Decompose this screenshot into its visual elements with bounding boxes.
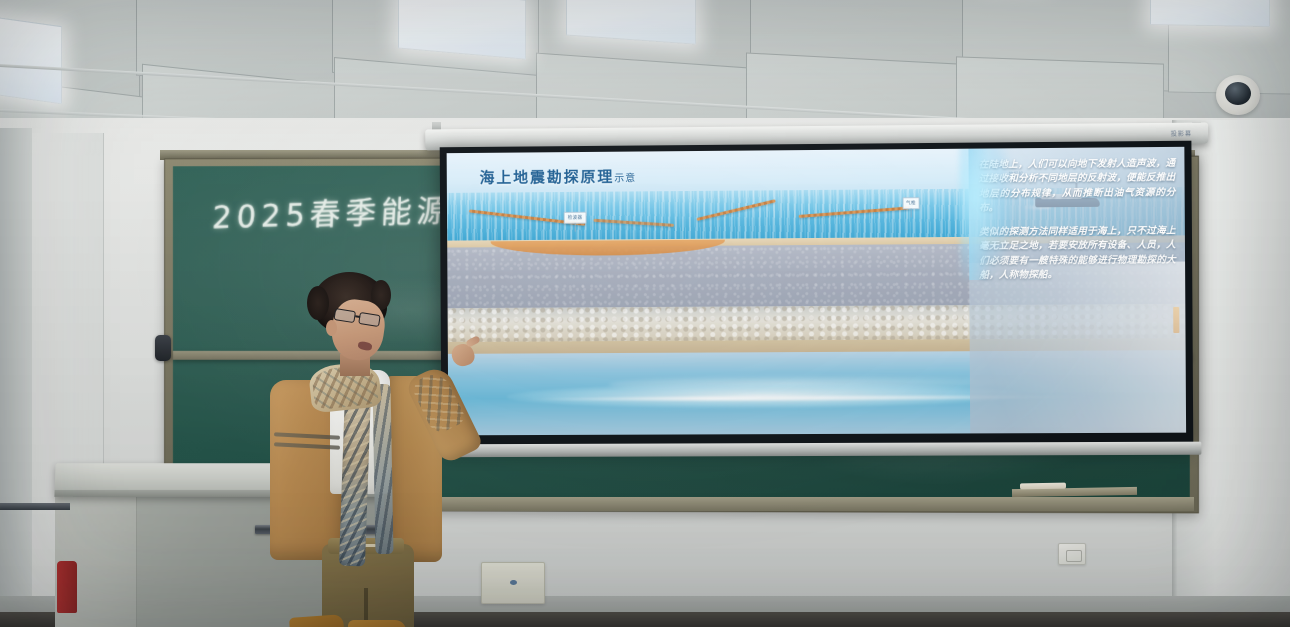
dome-security-camera — [1216, 75, 1260, 115]
ceiling-light-panel — [1150, 0, 1270, 27]
slide-title: 海上地震勘探原理示意 — [480, 166, 637, 188]
chalkboard-ledge — [404, 497, 1194, 511]
indicator-dot-icon — [510, 580, 517, 585]
slide-title-sub: 示意 — [614, 174, 636, 185]
camera-lens-icon — [1225, 82, 1251, 105]
projection-screen[interactable]: 检波器 气枪 物探船 海上地震勘探原理示意 在陆地上，人们可以向地下发射人造声波… — [440, 141, 1194, 446]
slide-watermark — [1173, 307, 1179, 333]
power-outlet[interactable] — [1058, 543, 1086, 565]
slide-text-panel: 在陆地上，人们可以向地下发射人造声波，通过接收和分析不同地层的反射波，便能反推出… — [968, 147, 1186, 434]
classroom-scene: 2025春季能源科普 投影幕 — [0, 0, 1290, 627]
jacket-lining-pattern — [373, 384, 394, 554]
ear — [326, 320, 337, 336]
slide-callout-geophone: 检波器 — [564, 211, 587, 223]
slide: 检波器 气枪 物探船 海上地震勘探原理示意 在陆地上，人们可以向地下发射人造声波… — [447, 147, 1186, 436]
slide-title-main: 海上地震勘探原理 — [480, 168, 615, 187]
boot-right — [348, 620, 406, 627]
presenter — [266, 272, 476, 627]
slide-callout-airgun: 气枪 — [902, 197, 920, 209]
left-pillar — [0, 128, 32, 627]
boot-left — [289, 614, 345, 627]
lectern-drawer-rail — [0, 503, 70, 510]
chalk-stick[interactable] — [1020, 483, 1066, 490]
chalkboard-handle[interactable] — [155, 335, 171, 361]
slide-glow-decor — [960, 147, 1012, 280]
fire-extinguisher — [57, 561, 77, 613]
projection-screen-canvas: 检波器 气枪 物探船 海上地震勘探原理示意 在陆地上，人们可以向地下发射人造声波… — [447, 147, 1186, 436]
housing-label: 投影幕 — [1171, 129, 1192, 138]
projection-screen-weight-bar — [436, 442, 1202, 458]
junction-box — [481, 562, 545, 604]
